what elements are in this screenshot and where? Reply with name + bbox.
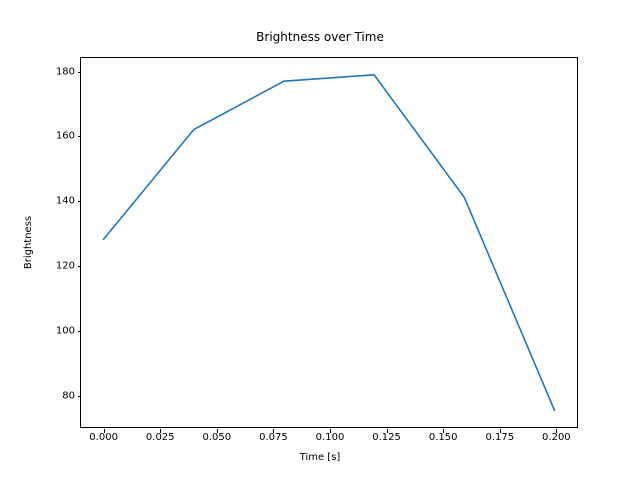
x-tick-label: 0.075 [259,432,288,443]
y-tick-label: 160 [56,131,75,142]
plot-axes: 801001201401601800.0000.0250.0500.0750.1… [80,57,578,428]
x-tick-label: 0.025 [146,432,175,443]
matplotlib-figure: Brightness over Time 801001201401601800.… [0,0,640,480]
x-tick-label: 0.175 [485,432,514,443]
x-tick-label: 0.125 [372,432,401,443]
x-axis-label: Time [s] [0,452,640,463]
y-tick-label: 80 [62,390,75,401]
x-tick-label: 0.150 [429,432,458,443]
x-tick-label: 0.100 [316,432,345,443]
page-title: Brightness over Time [0,30,640,44]
data-line-brightness [104,75,555,410]
x-tick-label: 0.200 [542,432,571,443]
y-axis-label: Brightness [22,57,36,428]
y-tick-label: 100 [56,326,75,337]
y-tick-label: 140 [56,196,75,207]
x-tick-label: 0.000 [89,432,118,443]
y-tick-label: 120 [56,261,75,272]
x-tick-label: 0.050 [202,432,231,443]
y-tick-label: 180 [56,66,75,77]
plot-lines [81,58,577,427]
